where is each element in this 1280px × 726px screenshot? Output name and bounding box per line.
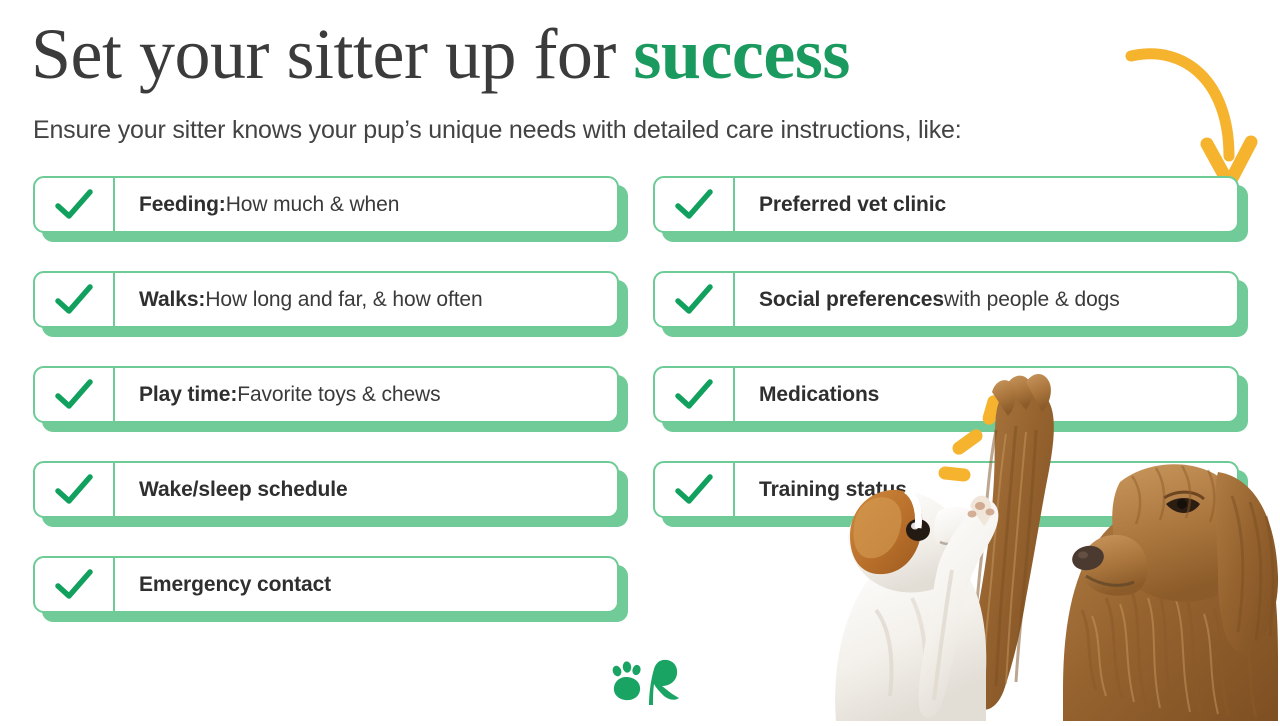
checkmark-icon — [35, 558, 115, 611]
checklist-item[interactable]: Play time: Favorite toys & chews — [33, 366, 628, 432]
checklist-item-label: Preferred vet clinic — [735, 178, 1237, 231]
checklist-item-label: Walks: How long and far, & how often — [115, 273, 617, 326]
label-bold: Walks: — [139, 287, 205, 313]
headline-plain-text: Set your sitter up for — [31, 14, 633, 94]
dogs-photo — [820, 360, 1280, 721]
label-rest: How long and far, & how often — [205, 287, 482, 313]
card-face: Feeding: How much & when — [33, 176, 619, 233]
card-face: Social preferences with people & dogs — [653, 271, 1239, 328]
label-rest: Favorite toys & chews — [237, 382, 440, 408]
checklist-item[interactable]: Emergency contact — [33, 556, 628, 622]
rover-paw-r-logo — [605, 657, 685, 709]
page-subtitle: Ensure your sitter knows your pup’s uniq… — [33, 114, 961, 146]
checklist-item-label: Feeding: How much & when — [115, 178, 617, 231]
dog-left-terrier — [835, 490, 998, 721]
checklist-item-label: Play time: Favorite toys & chews — [115, 368, 617, 421]
label-rest: with people & dogs — [944, 287, 1120, 313]
label-bold: Preferred vet clinic — [759, 192, 946, 218]
dog-right-setter — [968, 374, 1278, 721]
card-face: Wake/sleep schedule — [33, 461, 619, 518]
label-rest: How much & when — [226, 192, 400, 218]
headline-accent-text: success — [633, 14, 849, 94]
label-bold: Emergency contact — [139, 572, 331, 598]
checklist-item-label: Wake/sleep schedule — [115, 463, 617, 516]
checklist-item[interactable]: Walks: How long and far, & how often — [33, 271, 628, 337]
checklist-item[interactable]: Feeding: How much & when — [33, 176, 628, 242]
checkmark-icon — [655, 368, 735, 421]
card-face: Preferred vet clinic — [653, 176, 1239, 233]
checklist-item-label: Social preferences with people & dogs — [735, 273, 1237, 326]
checkmark-icon — [35, 463, 115, 516]
card-face: Walks: How long and far, & how often — [33, 271, 619, 328]
checklist-item-label: Emergency contact — [115, 558, 617, 611]
label-bold: Play time: — [139, 382, 237, 408]
checkmark-icon — [655, 463, 735, 516]
label-bold: Feeding: — [139, 192, 226, 218]
card-face: Play time: Favorite toys & chews — [33, 366, 619, 423]
checklist-item[interactable]: Wake/sleep schedule — [33, 461, 628, 527]
checklist-item[interactable]: Social preferences with people & dogs — [653, 271, 1248, 337]
label-bold: Social preferences — [759, 287, 944, 313]
card-face: Emergency contact — [33, 556, 619, 613]
checkmark-icon — [35, 368, 115, 421]
checkmark-icon — [655, 178, 735, 231]
poster-canvas: Set your sitter up for success Ensure yo… — [0, 0, 1280, 721]
checkmark-icon — [35, 178, 115, 231]
label-bold: Wake/sleep schedule — [139, 477, 348, 503]
page-title: Set your sitter up for success — [31, 14, 850, 94]
checkmark-icon — [655, 273, 735, 326]
checklist-column-left: Feeding: How much & when Walks: How long… — [33, 176, 628, 622]
checklist-item[interactable]: Preferred vet clinic — [653, 176, 1248, 242]
curved-down-arrow-icon — [1125, 38, 1275, 198]
checkmark-icon — [35, 273, 115, 326]
